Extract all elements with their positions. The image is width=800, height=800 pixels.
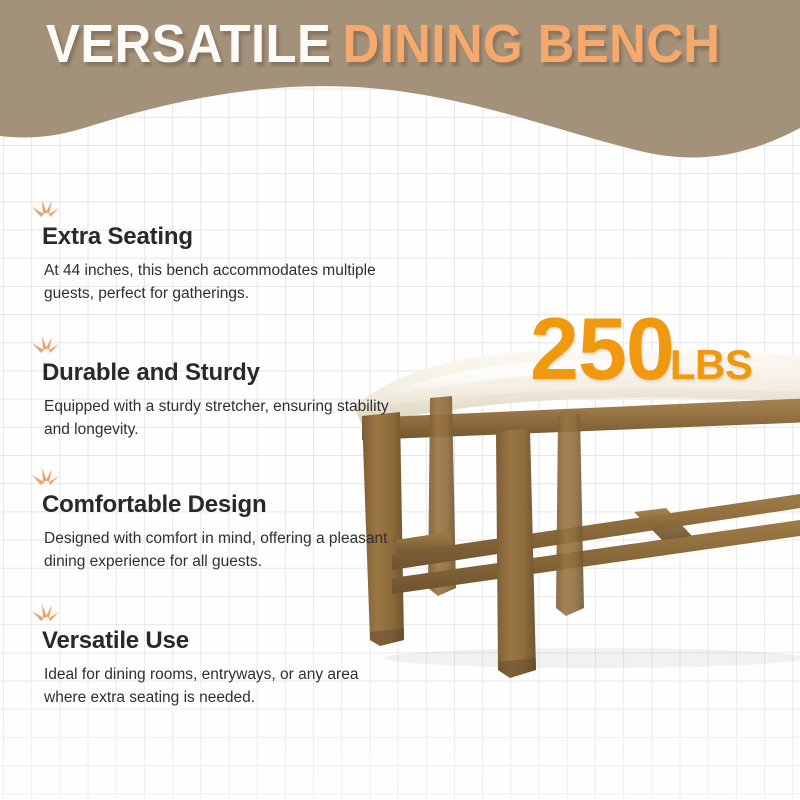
bench-leg-rear-left xyxy=(428,396,456,596)
sparkle-burst-icon xyxy=(30,602,64,632)
feature-title: Durable and Sturdy xyxy=(28,334,408,386)
feature-item-durable-and-sturdy: Durable and Sturdy Equipped with a sturd… xyxy=(28,334,408,441)
sparkle-burst-icon xyxy=(30,334,64,364)
bench-floor-shadow xyxy=(384,648,800,668)
weight-capacity-value: 250 xyxy=(530,299,674,398)
feature-item-extra-seating: Extra Seating At 44 inches, this bench a… xyxy=(28,198,408,305)
sparkle-burst-icon xyxy=(30,198,64,228)
feature-description: Designed with comfort in mind, offering … xyxy=(28,518,389,573)
feature-title: Comfortable Design xyxy=(28,466,408,518)
sparkle-burst-icon xyxy=(30,466,64,496)
product-infographic: VERSATILEDINING BENCH xyxy=(0,0,800,800)
feature-title: Versatile Use xyxy=(28,602,408,654)
feature-description: Equipped with a sturdy stretcher, ensuri… xyxy=(28,386,389,441)
feature-item-comfortable-design: Comfortable Design Designed with comfort… xyxy=(28,466,408,573)
weight-capacity-badge: 250LBS xyxy=(530,305,752,393)
bench-leg-rear-middle xyxy=(556,414,584,616)
feature-item-versatile-use: Versatile Use Ideal for dining rooms, en… xyxy=(28,602,408,709)
page-title-secondary: DINING BENCH xyxy=(343,14,721,74)
weight-capacity-unit: LBS xyxy=(670,341,753,388)
feature-description: At 44 inches, this bench accommodates mu… xyxy=(28,250,389,305)
feature-title: Extra Seating xyxy=(28,198,408,250)
feature-description: Ideal for dining rooms, entryways, or an… xyxy=(28,654,389,709)
page-title: VERSATILEDINING BENCH xyxy=(46,17,720,71)
bench-leg-front-middle xyxy=(496,428,536,678)
page-title-primary: VERSATILE xyxy=(46,14,331,74)
